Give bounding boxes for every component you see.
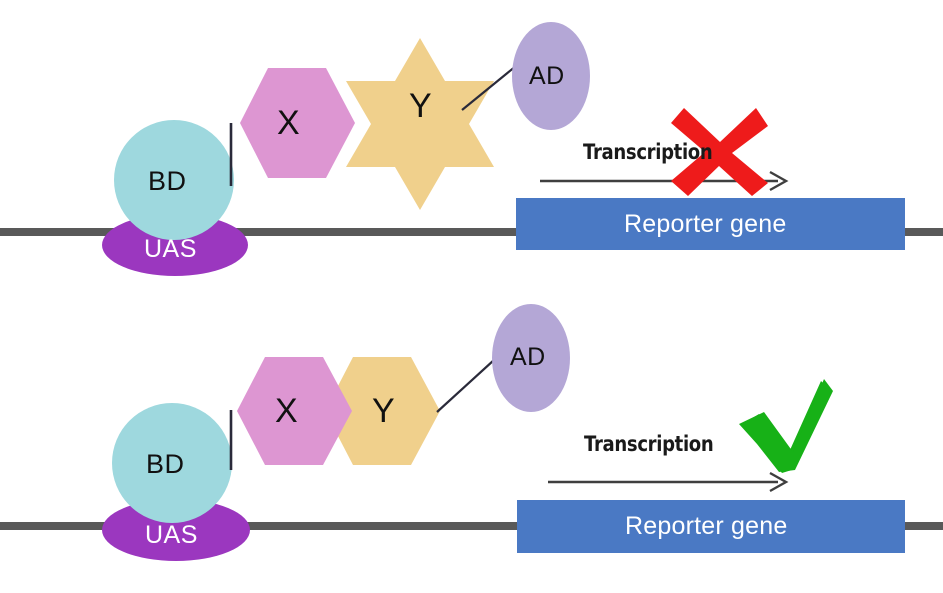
bd-circle-bottom [112, 403, 232, 523]
ad-ellipse-bottom [492, 304, 570, 412]
ad-ellipse-top [512, 22, 590, 130]
reporter-gene-bar-bottom [517, 500, 905, 553]
reporter-gene-bar-top [516, 198, 905, 250]
red-cross-icon [671, 108, 768, 196]
dna-strand-bottom-right [900, 522, 943, 530]
diagram-canvas: BD UAS X Y AD Transcription Reporter gen… [0, 0, 943, 593]
connector-y-ad-bottom [437, 360, 494, 412]
shapes-layer [0, 0, 943, 593]
x-hexagon-bottom [237, 357, 352, 465]
bd-circle-top [114, 120, 234, 240]
dna-strand-top-right [900, 228, 943, 236]
dna-strand-top-left [0, 228, 520, 236]
green-check-icon [739, 379, 833, 473]
x-hexagon-top [240, 68, 355, 178]
dna-strand-bottom-left [0, 522, 520, 530]
y-star-top [346, 38, 494, 210]
